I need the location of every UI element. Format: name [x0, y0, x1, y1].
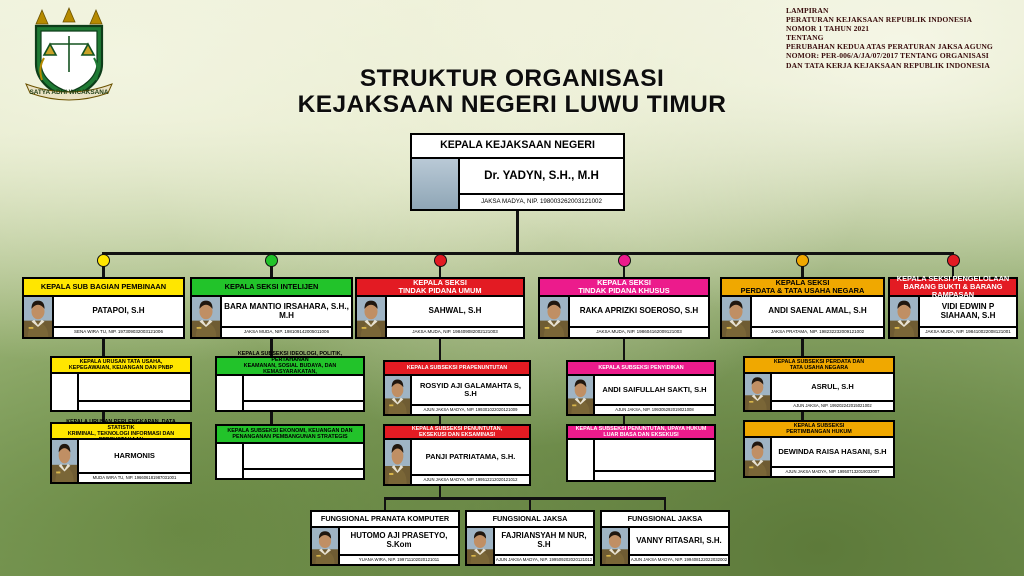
officer-nip: JAKSA MUDA, NIP. 198604162009121003: [570, 326, 708, 337]
officer-photo: [385, 440, 412, 484]
officer-name: HARMONIS: [79, 440, 190, 472]
officer-name: Dr. YADYN, S.H., M.H: [460, 159, 623, 193]
card-body: ROSYID AJI GALAMAHTA S, S.HAJUN JAKSA MA…: [385, 376, 529, 414]
officer-name: [244, 376, 363, 400]
officer-name: FAJRIANSYAH M NUR, S.H: [495, 528, 593, 554]
officer-photo-empty: [568, 440, 595, 480]
card-body: [568, 440, 714, 480]
card-title-text: KEPALA SUBSEKSI EKONOMI, KEUANGAN DANPEN…: [227, 428, 352, 440]
card-title-text: KEPALA SUBSEKSI PENUNTUTAN, UPAYA HUKUML…: [576, 426, 707, 438]
card-section-pidsus[interactable]: KEPALA SEKSITINDAK PIDANA KHUSUSRAKA APR…: [538, 277, 710, 339]
officer-nip: JAKSA MUDA, NIP. 198409082002121003: [387, 326, 523, 337]
card-body: VIDI EDWIN P SIAHAAN, S.HJAKSA MUDA, NIP…: [890, 297, 1016, 337]
card-title: KEPALA URUSAN PERLENGKAPAN, DATA STATIST…: [52, 424, 190, 440]
legal-line: NOMOR: PER-006/A/JA/07/2017 TENTANG ORGA…: [786, 51, 1018, 60]
card-body: ANDI SAENAL AMAL, S.HJAKSA PRATAMA, NIP.…: [722, 297, 883, 337]
card-subsection-pidum-2[interactable]: KEPALA SUBSEKSI PENUNTUTAN,EKSEKUSI DAN …: [383, 424, 531, 486]
officer-info: ROSYID AJI GALAMAHTA S, S.HAJUN JAKSA MA…: [412, 376, 529, 414]
officer-nip: [79, 400, 190, 410]
card-title-text: KEPALA URUSAN TATA USAHA,KEPEGAWAIAN, KE…: [69, 359, 173, 371]
officer-info: HUTOMO AJI PRASETYO, S.KomYUANA WIRA, NI…: [340, 528, 458, 564]
card-title: KEPALA SUBSEKSIPERTIMBANGAN HUKUM: [745, 422, 893, 438]
connector-vertical: [664, 497, 667, 510]
legal-line: TENTANG: [786, 33, 1018, 42]
card-subsection-pidsus-2[interactable]: KEPALA SUBSEKSI PENUNTUTAN, UPAYA HUKUML…: [566, 424, 716, 482]
officer-nip: AJUN JAKSA MADYA, NIP. 19951221202012101…: [412, 474, 529, 484]
card-body: ASRUL, S.HAJUN JAKSA, NIP. 1992022420150…: [745, 374, 893, 410]
card-title: KEPALA SEKSITINDAK PIDANA KHUSUS: [540, 279, 708, 297]
card-title-text: KEPALA SUB BAGIAN PEMBINAAN: [41, 283, 166, 291]
officer-info: ANDI SAENAL AMAL, S.HJAKSA PRATAMA, NIP.…: [752, 297, 883, 337]
officer-nip: AJUN JAKSA, NIP. 199305292019021008: [595, 404, 714, 414]
card-title-text: KEPALA SEKSI INTELIJEN: [225, 283, 319, 291]
chart-title-line1: STRUKTUR ORGANISASI: [0, 66, 1024, 92]
officer-nip: SENA WIRA TU, NIP. 197309032003121006: [54, 326, 183, 337]
officer-nip: AJUN JAKSA MADYA, NIP. 19940812202203200…: [630, 554, 728, 564]
card-title: KEPALA SUB BAGIAN PEMBINAAN: [24, 279, 183, 297]
officer-info: ASRUL, S.HAJUN JAKSA, NIP. 1992022420150…: [772, 374, 893, 410]
card-section-intelijen[interactable]: KEPALA SEKSI INTELIJENBARA MANTIO IRSAHA…: [190, 277, 353, 339]
officer-info: DEWINDA RAISA HASANI, S.HAJUN JAKSA MADY…: [772, 438, 893, 476]
card-section-pembinaan[interactable]: KEPALA SUB BAGIAN PEMBINAANPATAPOI, S.HS…: [22, 277, 185, 339]
card-title: KEPALA SUBSEKSI PENUNTUTAN, UPAYA HUKUML…: [568, 426, 714, 440]
card-body: [217, 376, 363, 410]
officer-info: Dr. YADYN, S.H., M.H JAKSA MADYA, NIP. 1…: [460, 159, 623, 209]
card-title-text: FUNGSIONAL JAKSA: [493, 515, 568, 523]
officer-name: [244, 444, 363, 468]
card-title-text: FUNGSIONAL PRANATA KOMPUTER: [321, 515, 449, 523]
card-title: KEPALA SUBSEKSI PENYIDIKAN: [568, 362, 714, 376]
officer-nip: AJUN JAKSA MADYA, NIP. 19930102202012100…: [412, 404, 529, 414]
chart-title: STRUKTUR ORGANISASI KEJAKSAAN NEGERI LUW…: [0, 66, 1024, 118]
officer-nip: AJUN JAKSA MADYA, NIP. 19950920202012101…: [495, 554, 593, 564]
card-subsection-pembinaan-1[interactable]: KEPALA URUSAN TATA USAHA,KEPEGAWAIAN, KE…: [50, 356, 192, 412]
card-title: KEPALA SEKSIPERDATA & TATA USAHA NEGARA: [722, 279, 883, 297]
card-body: RAKA APRIZKI SOEROSO, S.HJAKSA MUDA, NIP…: [540, 297, 708, 337]
card-title-text: KEPALA SUBSEKSI PERDATA DANTATA USAHA NE…: [774, 359, 864, 371]
card-title: FUNGSIONAL JAKSA: [602, 512, 728, 528]
officer-nip: YUANA WIRA, NIP. 199711102020121011: [340, 554, 458, 564]
officer-nip: AJUN JAKSA MADYA, NIP. 19950713201903200…: [772, 466, 893, 476]
connector-node: [618, 254, 631, 267]
officer-photo: [568, 376, 595, 414]
card-title-text: FUNGSIONAL JAKSA: [628, 515, 703, 523]
legal-line: LAMPIRAN: [786, 6, 1018, 15]
card-subsection-datun-2[interactable]: KEPALA SUBSEKSIPERTIMBANGAN HUKUMDEWINDA…: [743, 420, 895, 478]
card-subsection-pidum-1[interactable]: KEPALA SUBSEKSI PRAPENUNTUTANROSYID AJI …: [383, 360, 531, 416]
officer-name: [595, 440, 714, 470]
officer-nip: JAKSA PRATAMA, NIP. 198232232009121002: [752, 326, 883, 337]
officer-info: HARMONISMUDA WIRA TU, NIP. 1966061819870…: [79, 440, 190, 482]
card-body: HARMONISMUDA WIRA TU, NIP. 1966061819870…: [52, 440, 190, 482]
card-title: KEPALA URUSAN TATA USAHA,KEPEGAWAIAN, KE…: [52, 358, 190, 374]
connector-vertical: [384, 497, 387, 510]
card-title-text: KEPALA SUBSEKSI PENYIDIKAN: [598, 365, 683, 371]
card-title: KEPALA SEKSI INTELIJEN: [192, 279, 351, 297]
officer-name: PANJI PATRIATAMA, S.H.: [412, 440, 529, 474]
officer-photo: [602, 528, 630, 564]
card-body: FAJRIANSYAH M NUR, S.HAJUN JAKSA MADYA, …: [467, 528, 593, 564]
officer-photo: [890, 297, 920, 337]
card-body: DEWINDA RAISA HASANI, S.HAJUN JAKSA MADY…: [745, 438, 893, 476]
officer-info: BARA MANTIO IRSAHARA, S.H., M.HJAKSA MUD…: [222, 297, 351, 337]
officer-info: VIDI EDWIN P SIAHAAN, S.HJAKSA MUDA, NIP…: [920, 297, 1016, 337]
officer-name: [79, 374, 190, 400]
connector-node: [434, 254, 447, 267]
card-title: KEPALA SUBSEKSI PRAPENUNTUTAN: [385, 362, 529, 376]
officer-photo: [192, 297, 222, 337]
officer-name: ROSYID AJI GALAMAHTA S, S.H: [412, 376, 529, 404]
officer-info: VANNY RITASARI, S.H.AJUN JAKSA MADYA, NI…: [630, 528, 728, 564]
officer-info: PATAPOI, S.HSENA WIRA TU, NIP. 197309032…: [54, 297, 183, 337]
card-section-pidum[interactable]: KEPALA SEKSITINDAK PIDANA UMUMSAHWAL, S.…: [355, 277, 525, 339]
card-kepala-kejaksaan-negeri[interactable]: KEPALA KEJAKSAAN NEGERI Dr. YADYN, S.H.,…: [410, 133, 625, 211]
card-title: KEPALA SUBSEKSI IDEOLOGI, POLITIK, PERTA…: [217, 358, 363, 376]
connector-node: [265, 254, 278, 267]
card-body: HUTOMO AJI PRASETYO, S.KomYUANA WIRA, NI…: [312, 528, 458, 564]
legal-line: NOMOR 1 TAHUN 2021: [786, 24, 1018, 33]
card-title: KEPALA SUBSEKSI EKONOMI, KEUANGAN DANPEN…: [217, 426, 363, 444]
officer-name: SAHWAL, S.H: [387, 297, 523, 326]
connector-node: [796, 254, 809, 267]
officer-photo: [52, 440, 79, 482]
connector-node: [947, 254, 960, 267]
card-title-text: KEPALA SUBSEKSI PENUNTUTAN,EKSEKUSI DAN …: [412, 426, 502, 438]
officer-info: ANDI SAIFULLAH SAKTI, S.HAJUN JAKSA, NIP…: [595, 376, 714, 414]
officer-name: VIDI EDWIN P SIAHAAN, S.H: [920, 297, 1016, 326]
officer-nip: JAKSA MADYA, NIP. 198003262003121002: [460, 193, 623, 209]
card-body: ANDI SAIFULLAH SAKTI, S.HAJUN JAKSA, NIP…: [568, 376, 714, 414]
legal-reference-header: LAMPIRAN PERATURAN KEJAKSAAN REPUBLIK IN…: [786, 6, 1018, 70]
officer-photo: [467, 528, 495, 564]
card-title-text: KEPALA SEKSITINDAK PIDANA KHUSUS: [578, 279, 669, 296]
officer-photo: [24, 297, 54, 337]
card-body: BARA MANTIO IRSAHARA, S.H., M.HJAKSA MUD…: [192, 297, 351, 337]
card-title-text: KEPALA SEKSIPERDATA & TATA USAHA NEGARA: [741, 279, 865, 296]
officer-nip: [595, 470, 714, 480]
card-title-text: KEPALA SEKSI PENGELOLAANBARANG BUKTI & B…: [892, 275, 1014, 300]
officer-photo: [745, 438, 772, 476]
officer-info: PANJI PATRIATAMA, S.H.AJUN JAKSA MADYA, …: [412, 440, 529, 484]
card-section-datun[interactable]: KEPALA SEKSIPERDATA & TATA USAHA NEGARAA…: [720, 277, 885, 339]
officer-photo: [312, 528, 340, 564]
chart-title-line2: KEJAKSAAN NEGERI LUWU TIMUR: [0, 92, 1024, 118]
card-body: Dr. YADYN, S.H., M.H JAKSA MADYA, NIP. 1…: [412, 159, 623, 209]
officer-info: SAHWAL, S.HJAKSA MUDA, NIP. 198409082002…: [387, 297, 523, 337]
card-title: FUNGSIONAL PRANATA KOMPUTER: [312, 512, 458, 528]
connector-horizontal: [385, 497, 665, 500]
legal-line: PERUBAHAN KEDUA ATAS PERATURAN JAKSA AGU…: [786, 42, 1018, 51]
officer-name: PATAPOI, S.H: [54, 297, 183, 326]
card-subsection-datun-1[interactable]: KEPALA SUBSEKSI PERDATA DANTATA USAHA NE…: [743, 356, 895, 412]
officer-name: HUTOMO AJI PRASETYO, S.Kom: [340, 528, 458, 554]
card-title: KEPALA SUBSEKSI PENUNTUTAN,EKSEKUSI DAN …: [385, 426, 529, 440]
connector-vertical: [529, 497, 532, 510]
card-functional-1[interactable]: FUNGSIONAL PRANATA KOMPUTERHUTOMO AJI PR…: [310, 510, 460, 566]
officer-nip: [244, 468, 363, 478]
card-body: [217, 444, 363, 478]
officer-name: ANDI SAIFULLAH SAKTI, S.H: [595, 376, 714, 404]
card-body: PATAPOI, S.HSENA WIRA TU, NIP. 197309032…: [24, 297, 183, 337]
card-subsection-intelijen-2[interactable]: KEPALA SUBSEKSI EKONOMI, KEUANGAN DANPEN…: [215, 424, 365, 480]
card-functional-3[interactable]: FUNGSIONAL JAKSAVANNY RITASARI, S.H.AJUN…: [600, 510, 730, 566]
connector-horizontal: [104, 252, 954, 255]
officer-photo: [412, 159, 460, 209]
officer-photo-empty: [217, 444, 244, 478]
officer-info: [244, 376, 363, 410]
officer-photo: [385, 376, 412, 414]
officer-nip: [244, 400, 363, 410]
card-title: KEPALA KEJAKSAAN NEGERI: [412, 135, 623, 159]
officer-photo-empty: [217, 376, 244, 410]
connector-node: [97, 254, 110, 267]
card-subsection-intelijen-1[interactable]: KEPALA SUBSEKSI IDEOLOGI, POLITIK, PERTA…: [215, 356, 365, 412]
officer-name: ANDI SAENAL AMAL, S.H: [752, 297, 883, 326]
officer-name: VANNY RITASARI, S.H.: [630, 528, 728, 554]
card-body: SAHWAL, S.HJAKSA MUDA, NIP. 198409082002…: [357, 297, 523, 337]
card-body: VANNY RITASARI, S.H.AJUN JAKSA MADYA, NI…: [602, 528, 728, 564]
legal-line: PERATURAN KEJAKSAAN REPUBLIK INDONESIA: [786, 15, 1018, 24]
officer-name: BARA MANTIO IRSAHARA, S.H., M.H: [222, 297, 351, 326]
card-title-text: KEPALA SUBSEKSIPERTIMBANGAN HUKUM: [786, 423, 852, 435]
card-title-text: KEPALA SEKSITINDAK PIDANA UMUM: [398, 279, 481, 296]
card-subsection-pidsus-1[interactable]: KEPALA SUBSEKSI PENYIDIKANANDI SAIFULLAH…: [566, 360, 716, 416]
officer-photo: [722, 297, 752, 337]
card-title: FUNGSIONAL JAKSA: [467, 512, 593, 528]
officer-photo: [540, 297, 570, 337]
officer-nip: JAKSA MUDA, NIP. 198109142005011006: [222, 326, 351, 337]
officer-name: ASRUL, S.H: [772, 374, 893, 400]
card-title: KEPALA SEKSI PENGELOLAANBARANG BUKTI & B…: [890, 279, 1016, 297]
officer-info: [79, 374, 190, 410]
officer-photo: [745, 374, 772, 410]
card-title: KEPALA SUBSEKSI PERDATA DANTATA USAHA NE…: [745, 358, 893, 374]
card-title: KEPALA SEKSITINDAK PIDANA UMUM: [357, 279, 523, 297]
card-subsection-pembinaan-2[interactable]: KEPALA URUSAN PERLENGKAPAN, DATA STATIST…: [50, 422, 192, 484]
officer-nip: JAKSA MUDA, NIP. 198410022008121001: [920, 326, 1016, 337]
officer-info: [244, 444, 363, 478]
org-chart-canvas: SATYA ADHI WICAKSANA LAMPIRAN PERATURAN …: [0, 0, 1024, 576]
officer-nip: MUDA WIRA TU, NIP. 196606181987031001: [79, 472, 190, 482]
card-functional-2[interactable]: FUNGSIONAL JAKSAFAJRIANSYAH M NUR, S.HAJ…: [465, 510, 595, 566]
card-title-text: KEPALA SUBSEKSI PRAPENUNTUTAN: [407, 365, 507, 371]
officer-name: DEWINDA RAISA HASANI, S.H: [772, 438, 893, 466]
officer-info: [595, 440, 714, 480]
officer-info: FAJRIANSYAH M NUR, S.HAJUN JAKSA MADYA, …: [495, 528, 593, 564]
officer-photo: [357, 297, 387, 337]
officer-info: RAKA APRIZKI SOEROSO, S.HJAKSA MUDA, NIP…: [570, 297, 708, 337]
officer-name: RAKA APRIZKI SOEROSO, S.H: [570, 297, 708, 326]
officer-nip: AJUN JAKSA, NIP. 199202242015021002: [772, 400, 893, 410]
card-body: [52, 374, 190, 410]
card-body: PANJI PATRIATAMA, S.H.AJUN JAKSA MADYA, …: [385, 440, 529, 484]
card-section-barangbukti[interactable]: KEPALA SEKSI PENGELOLAANBARANG BUKTI & B…: [888, 277, 1018, 339]
connector-vertical: [516, 211, 519, 252]
officer-photo-empty: [52, 374, 79, 410]
